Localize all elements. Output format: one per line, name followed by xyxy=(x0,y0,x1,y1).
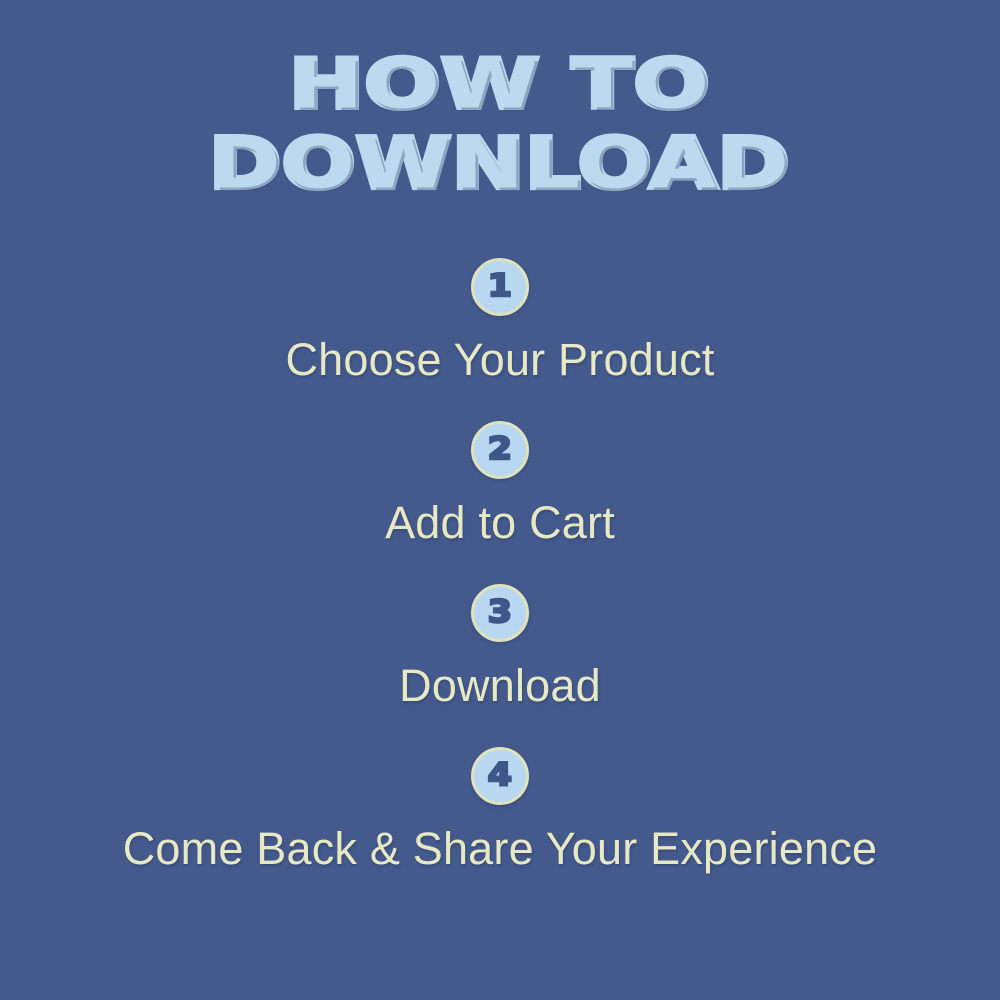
step-label-3: Download xyxy=(0,661,1000,711)
step-label-1: Choose Your Product xyxy=(0,335,1000,385)
step-item: 1 Choose Your Product xyxy=(0,258,1000,385)
step-number-3: 3 xyxy=(488,597,512,628)
title-line-download: DOWNLOAD xyxy=(0,129,1000,199)
step-label-2: Add to Cart xyxy=(0,498,1000,548)
step-item: 4 Come Back & Share Your Experience xyxy=(0,747,1000,874)
step-number-2: 2 xyxy=(488,434,512,465)
steps-list: 1 Choose Your Product 2 Add to Cart 3 Do… xyxy=(0,258,1000,874)
step-badge-1: 1 xyxy=(471,258,529,316)
step-item: 3 Download xyxy=(0,584,1000,711)
step-badge-3: 3 xyxy=(471,584,529,642)
step-item: 2 Add to Cart xyxy=(0,421,1000,548)
how-to-download-poster: HOW TO DOWNLOAD 1 Choose Your Product 2 … xyxy=(0,0,1000,1000)
step-badge-4: 4 xyxy=(471,747,529,805)
step-number-1: 1 xyxy=(488,271,512,302)
step-badge-2: 2 xyxy=(471,421,529,479)
step-label-4: Come Back & Share Your Experience xyxy=(0,824,1000,874)
poster-title: HOW TO DOWNLOAD xyxy=(0,52,1000,197)
step-number-4: 4 xyxy=(488,760,512,791)
title-line-how-to: HOW TO xyxy=(0,51,1000,118)
